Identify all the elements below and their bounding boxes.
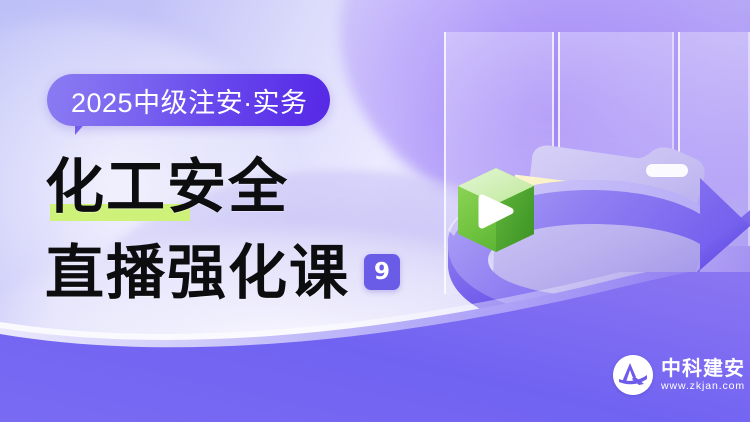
title-block: 化工安全 直播强化课 9 xyxy=(45,150,400,308)
green-play-cube-icon xyxy=(458,168,534,252)
title-line-1-row: 化工安全 xyxy=(45,150,400,222)
title-line-2-row: 直播强化课 9 xyxy=(45,236,400,308)
course-category-tag: 2025中级注安·实务 xyxy=(47,74,330,126)
brand-name: 中科建安 xyxy=(661,358,745,378)
episode-number: 9 xyxy=(374,261,390,284)
course-title-line-1: 化工安全 xyxy=(45,157,289,216)
course-category-label: 2025中级注安·实务 xyxy=(71,81,308,120)
brand-text-group: 中科建安 www.zkjan.com xyxy=(661,358,745,392)
episode-badge: 9 xyxy=(364,254,400,290)
zkjan-logo-icon xyxy=(613,355,653,395)
brand-url: www.zkjan.com xyxy=(661,381,745,392)
course-title-line-2: 直播强化课 xyxy=(45,243,350,302)
brand-logo[interactable]: 中科建安 www.zkjan.com xyxy=(613,355,745,395)
course-banner: 2025中级注安·实务 化工安全 直播强化课 9 中科建安 www.zkjan.… xyxy=(0,0,750,422)
